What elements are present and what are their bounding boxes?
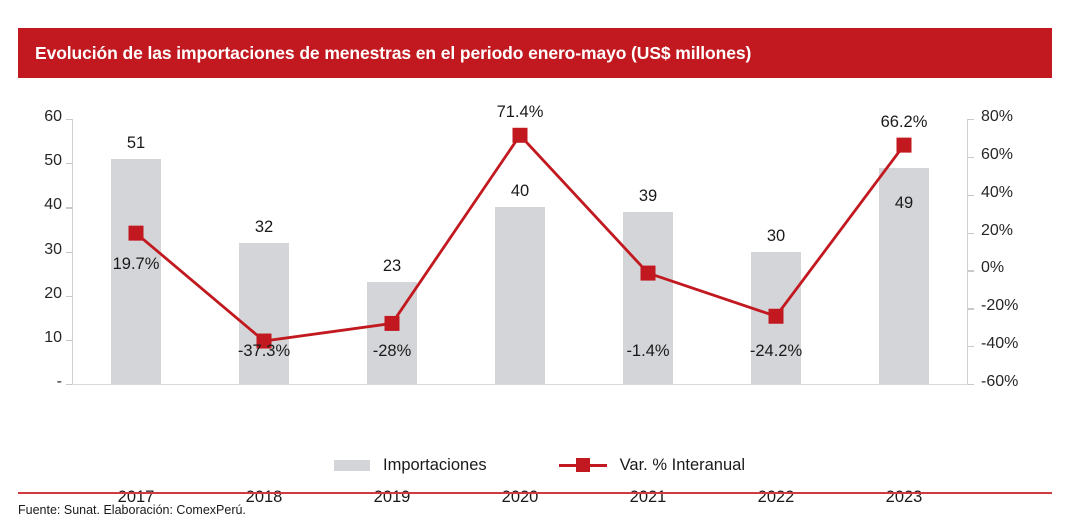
variation-value-label-2023: 66.2% bbox=[844, 113, 964, 132]
legend-item-importaciones[interactable]: Importaciones bbox=[334, 456, 487, 475]
chart-card: Evolución de las importaciones de menest… bbox=[0, 0, 1079, 527]
footer-divider bbox=[18, 492, 1052, 494]
variation-marker-2017[interactable] bbox=[129, 226, 144, 241]
legend-line-marker-icon bbox=[559, 458, 607, 472]
left-axis-tick bbox=[66, 384, 72, 385]
left-axis-tick-label: 50 bbox=[44, 152, 62, 170]
right-axis-tick-label: 60% bbox=[981, 146, 1013, 164]
variation-value-label-2021: -1.4% bbox=[588, 342, 708, 361]
variation-marker-2021[interactable] bbox=[641, 266, 656, 281]
variation-value-label-2020: 71.4% bbox=[460, 103, 580, 122]
chart-legend: Importaciones Var. % Interanual bbox=[0, 448, 1079, 482]
legend-label-importaciones: Importaciones bbox=[383, 456, 487, 475]
right-axis-tick bbox=[968, 270, 974, 271]
right-axis-tick-label: -40% bbox=[981, 335, 1018, 353]
left-axis-tick-label: 60 bbox=[44, 108, 62, 126]
right-axis-tick-label: -20% bbox=[981, 297, 1018, 315]
chart-title-bar: Evolución de las importaciones de menest… bbox=[18, 28, 1052, 78]
variation-value-label-2018: -37.3% bbox=[204, 342, 324, 361]
plot-region: 605040302010- 80%60%40%20%0%-20%-40%-60%… bbox=[0, 96, 1079, 426]
variation-value-label-2017: 19.7% bbox=[76, 255, 196, 274]
right-axis-tick-label: 40% bbox=[981, 184, 1013, 202]
left-axis-tick-label: 30 bbox=[44, 241, 62, 259]
variation-marker-2023[interactable] bbox=[897, 138, 912, 153]
right-axis-tick bbox=[968, 119, 974, 120]
legend-bar-swatch-icon bbox=[334, 460, 370, 471]
category-label-2022: 2022 bbox=[726, 488, 826, 507]
variation-marker-2020[interactable] bbox=[513, 128, 528, 143]
footer-source-text: Fuente: Sunat. Elaboración: ComexPerú. bbox=[18, 503, 246, 517]
variation-value-label-2019: -28% bbox=[332, 342, 452, 361]
category-label-2019: 2019 bbox=[342, 488, 442, 507]
left-axis-tick-label: 40 bbox=[44, 196, 62, 214]
right-axis-tick-label: 0% bbox=[981, 259, 1004, 277]
legend-label-var-interanual: Var. % Interanual bbox=[620, 456, 745, 475]
right-axis-tick bbox=[968, 195, 974, 196]
category-label-2023: 2023 bbox=[854, 488, 954, 507]
right-axis-tick bbox=[968, 308, 974, 309]
right-axis-tick-label: -60% bbox=[981, 373, 1018, 391]
category-label-2021: 2021 bbox=[598, 488, 698, 507]
left-axis-tick-label: 20 bbox=[44, 285, 62, 303]
right-axis-tick bbox=[968, 346, 974, 347]
right-axis-tick-label: 20% bbox=[981, 222, 1013, 240]
right-axis-tick bbox=[968, 233, 974, 234]
right-axis-tick-label: 80% bbox=[981, 108, 1013, 126]
right-axis-tick bbox=[968, 157, 974, 158]
left-axis-tick-label: 10 bbox=[44, 329, 62, 347]
variation-marker-2019[interactable] bbox=[385, 316, 400, 331]
variation-value-label-2022: -24.2% bbox=[716, 342, 836, 361]
variation-marker-2022[interactable] bbox=[769, 309, 784, 324]
legend-item-var-interanual[interactable]: Var. % Interanual bbox=[559, 456, 745, 475]
page-title: Evolución de las importaciones de menest… bbox=[18, 43, 751, 64]
category-axis-line bbox=[72, 384, 968, 385]
right-axis-tick bbox=[968, 384, 974, 385]
category-label-2020: 2020 bbox=[470, 488, 570, 507]
variation-line bbox=[136, 135, 904, 341]
left-axis-tick-label: - bbox=[57, 373, 62, 391]
